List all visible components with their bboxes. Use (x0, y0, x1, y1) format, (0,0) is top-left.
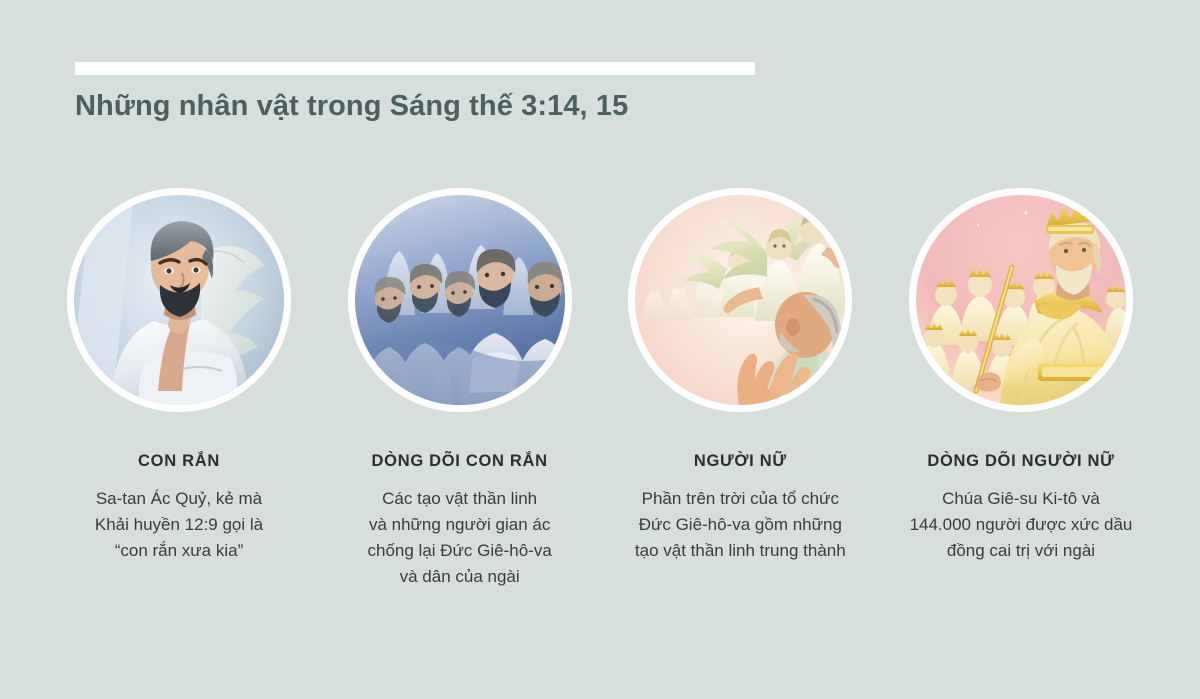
column-heading: DÒNG DÕI NGƯỜI NỮ (927, 452, 1114, 472)
body-line: Chúa Giê-su Ki-tô và (896, 486, 1146, 512)
circle-frame-serpent-seed (348, 188, 572, 412)
column-heading: NGƯỜI NỮ (694, 452, 787, 472)
group-of-wicked-spirit-creatures-illustration (355, 195, 565, 405)
circle-frame-woman (628, 188, 852, 412)
jesus-christ-king-with-anointed-ones-illustration (916, 195, 1126, 405)
circle-frame-serpent (67, 188, 291, 412)
faithful-angels-welcoming-man-illustration (635, 195, 845, 405)
column-heading: CON RẮN (138, 452, 220, 472)
body-line: Khải huyền 12:9 gọi là (54, 512, 304, 538)
body-line: và những người gian ác (335, 512, 585, 538)
body-line: chống lại Đức Giê-hô-va (335, 538, 585, 564)
figure-column-woman: NGƯỜI NỮ Phần trên trời của tổ chức Đức … (621, 188, 859, 564)
title-rule-bar (75, 62, 755, 75)
figure-column-serpent: CON RẮN Sa-tan Ác Quỷ, kẻ mà Khải huyền … (60, 188, 298, 564)
column-body: Các tạo vật thần linh và những người gia… (335, 486, 585, 590)
body-line: Đức Giê-hô-va gồm những (615, 512, 865, 538)
figure-column-woman-seed: DÒNG DÕI NGƯỜI NỮ Chúa Giê-su Ki-tô và 1… (902, 188, 1140, 564)
page-title: Những nhân vật trong Sáng thế 3:14, 15 (75, 90, 628, 123)
body-line: 144.000 người được xức dầu (896, 512, 1146, 538)
figures-row: CON RẮN Sa-tan Ác Quỷ, kẻ mà Khải huyền … (60, 188, 1140, 590)
circle-frame-woman-seed (909, 188, 1133, 412)
figure-column-serpent-seed: DÒNG DÕI CON RẮN Các tạo vật thần linh v… (341, 188, 579, 590)
body-line: và dân của ngài (335, 564, 585, 590)
column-body: Chúa Giê-su Ki-tô và 144.000 người được … (896, 486, 1146, 564)
body-line: “con rắn xưa kia” (54, 538, 304, 564)
body-line: Sa-tan Ác Quỷ, kẻ mà (54, 486, 304, 512)
column-body: Sa-tan Ác Quỷ, kẻ mà Khải huyền 12:9 gọi… (54, 486, 304, 564)
satan-fallen-angel-illustration (74, 195, 284, 405)
body-line: Các tạo vật thần linh (335, 486, 585, 512)
column-body: Phần trên trời của tổ chức Đức Giê-hô-va… (615, 486, 865, 564)
body-line: tạo vật thần linh trung thành (615, 538, 865, 564)
infographic-page: Những nhân vật trong Sáng thế 3:14, 15 (0, 0, 1200, 699)
column-heading: DÒNG DÕI CON RẮN (372, 452, 548, 472)
body-line: Phần trên trời của tổ chức (615, 486, 865, 512)
body-line: đồng cai trị với ngài (896, 538, 1146, 564)
